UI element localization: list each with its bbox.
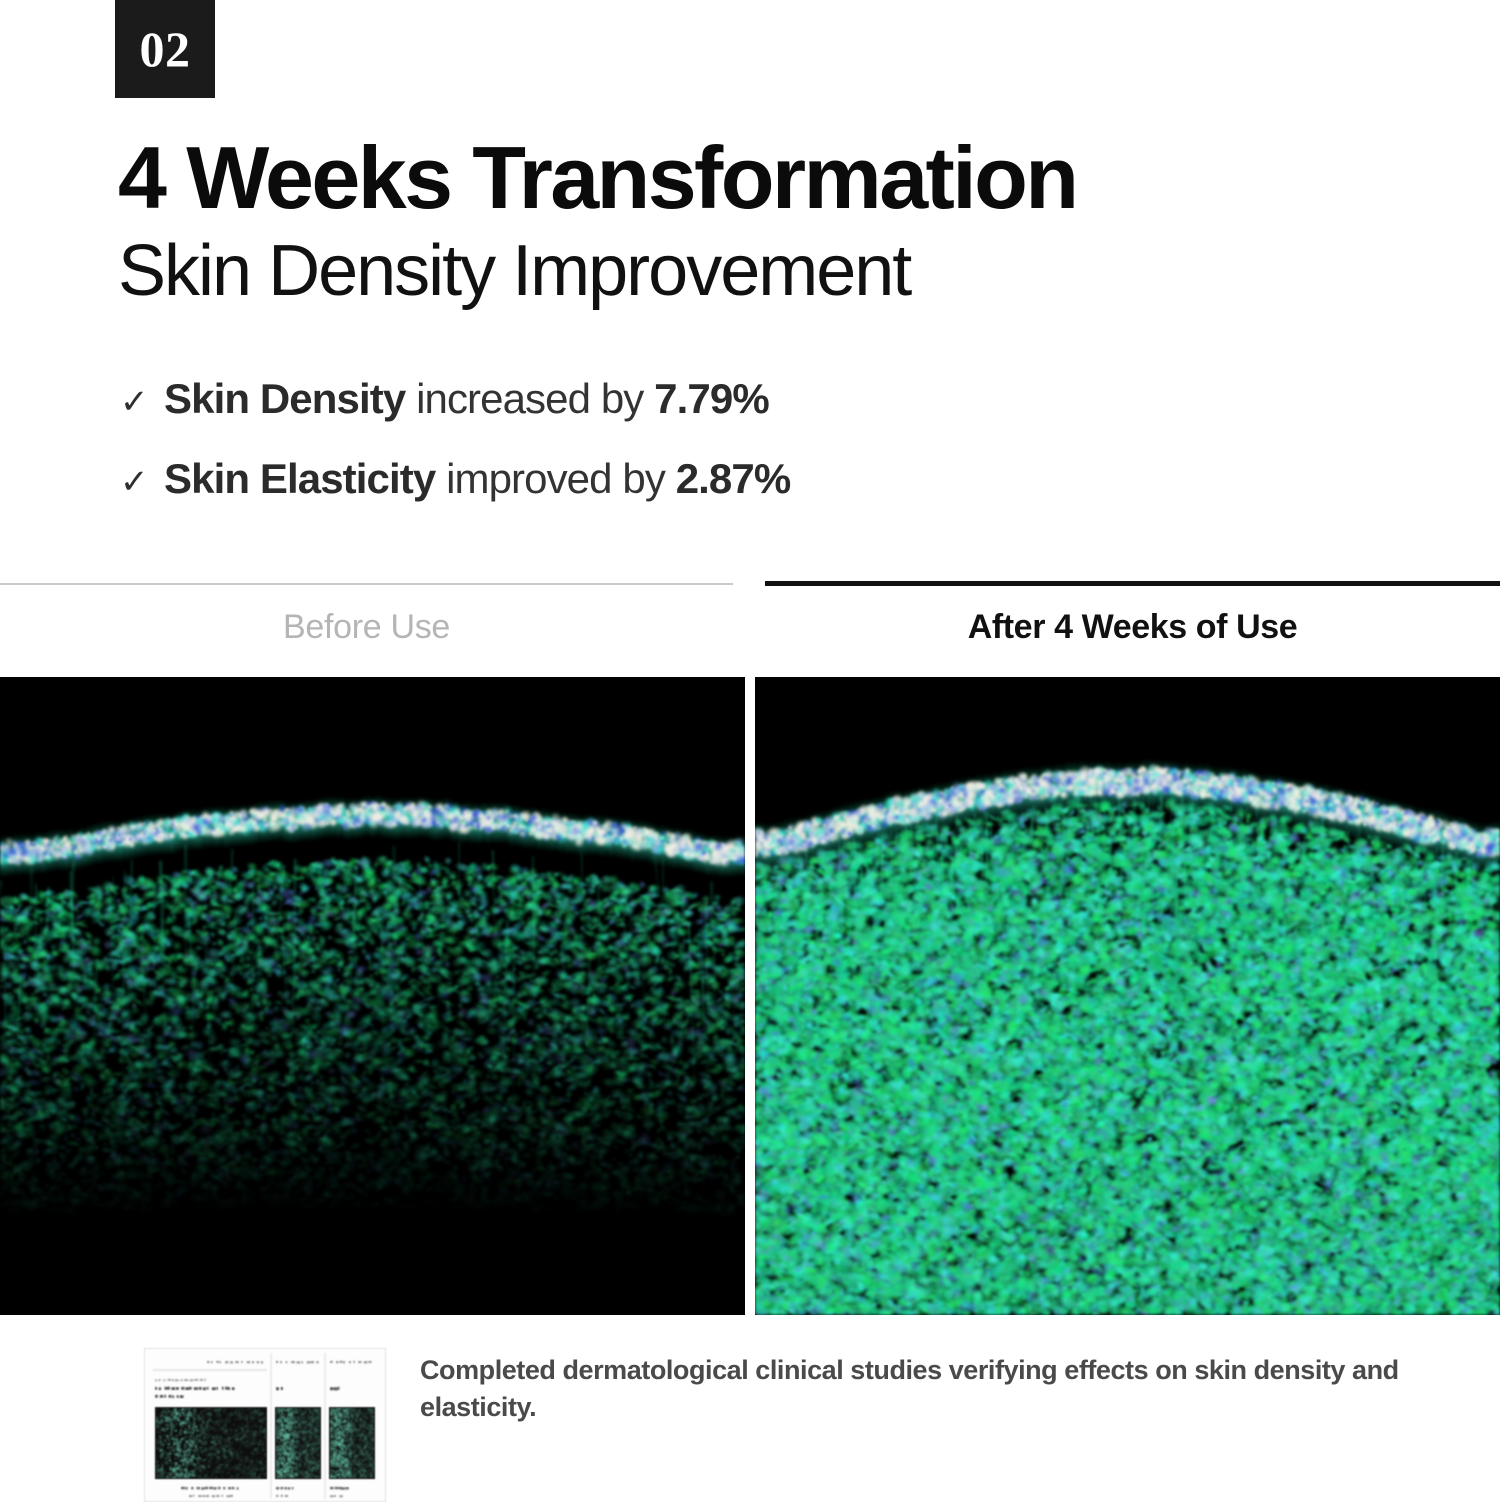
claims-list: ✓ Skin Density increased by 7.79% ✓ Skin… xyxy=(120,378,790,538)
before-scan-canvas xyxy=(0,677,745,1315)
after-column-label: After 4 Weeks of Use xyxy=(765,608,1500,647)
section-number-badge: 02 xyxy=(115,0,215,98)
before-column-rule xyxy=(0,583,733,585)
clinical-study-thumbnail xyxy=(144,1348,386,1502)
before-ultrasound-image xyxy=(0,677,745,1315)
claim-text: Skin Density increased by 7.79% xyxy=(164,378,769,420)
page-subtitle: Skin Density Improvement xyxy=(118,234,910,310)
claim-middle: improved by xyxy=(435,455,675,502)
after-scan-canvas xyxy=(755,677,1500,1315)
claim-label: Skin Elasticity xyxy=(164,455,435,502)
claim-item-skin-density: ✓ Skin Density increased by 7.79% xyxy=(120,378,790,458)
check-icon: ✓ xyxy=(120,465,164,499)
claim-label: Skin Density xyxy=(164,375,405,422)
after-column-rule xyxy=(765,581,1500,586)
claim-value: 7.79% xyxy=(654,375,769,422)
page-title: 4 Weeks Transformation xyxy=(118,133,1076,223)
study-document-canvas xyxy=(145,1349,385,1501)
check-icon: ✓ xyxy=(120,385,164,419)
section-number-label: 02 xyxy=(140,24,191,74)
claim-item-skin-elasticity: ✓ Skin Elasticity improved by 2.87% xyxy=(120,458,790,538)
claim-middle: increased by xyxy=(405,375,654,422)
study-caption: Completed dermatological clinical studie… xyxy=(420,1352,1430,1427)
claim-value: 2.87% xyxy=(676,455,791,502)
claim-text: Skin Elasticity improved by 2.87% xyxy=(164,458,790,500)
before-column-label: Before Use xyxy=(0,608,733,647)
after-ultrasound-image xyxy=(755,677,1500,1315)
